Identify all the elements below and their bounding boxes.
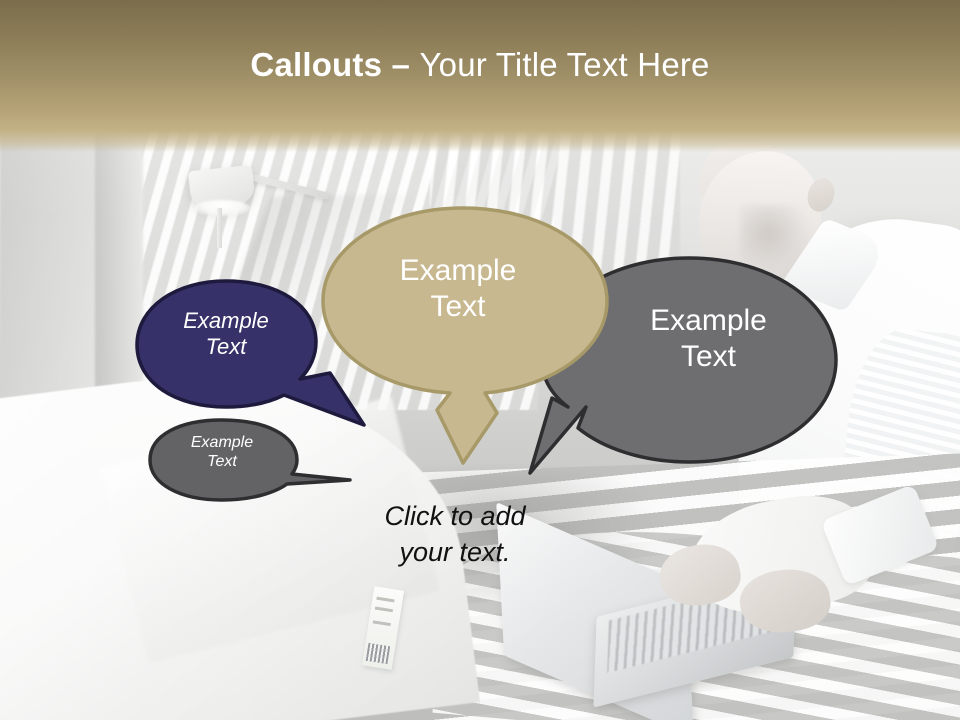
page-title: Callouts – Your Title Text Here — [0, 46, 960, 84]
click-to-add-text-placeholder[interactable]: Click to add your text. — [325, 498, 585, 571]
callout-tan[interactable]: Example Text — [320, 205, 610, 467]
slide-canvas: Callouts – Your Title Text Here Example … — [0, 0, 960, 720]
page-title-rest: Your Title Text Here — [419, 46, 709, 83]
callout-tan-shape — [320, 205, 610, 467]
page-title-bold: Callouts — [250, 46, 382, 83]
page-title-separator: – — [382, 46, 419, 83]
